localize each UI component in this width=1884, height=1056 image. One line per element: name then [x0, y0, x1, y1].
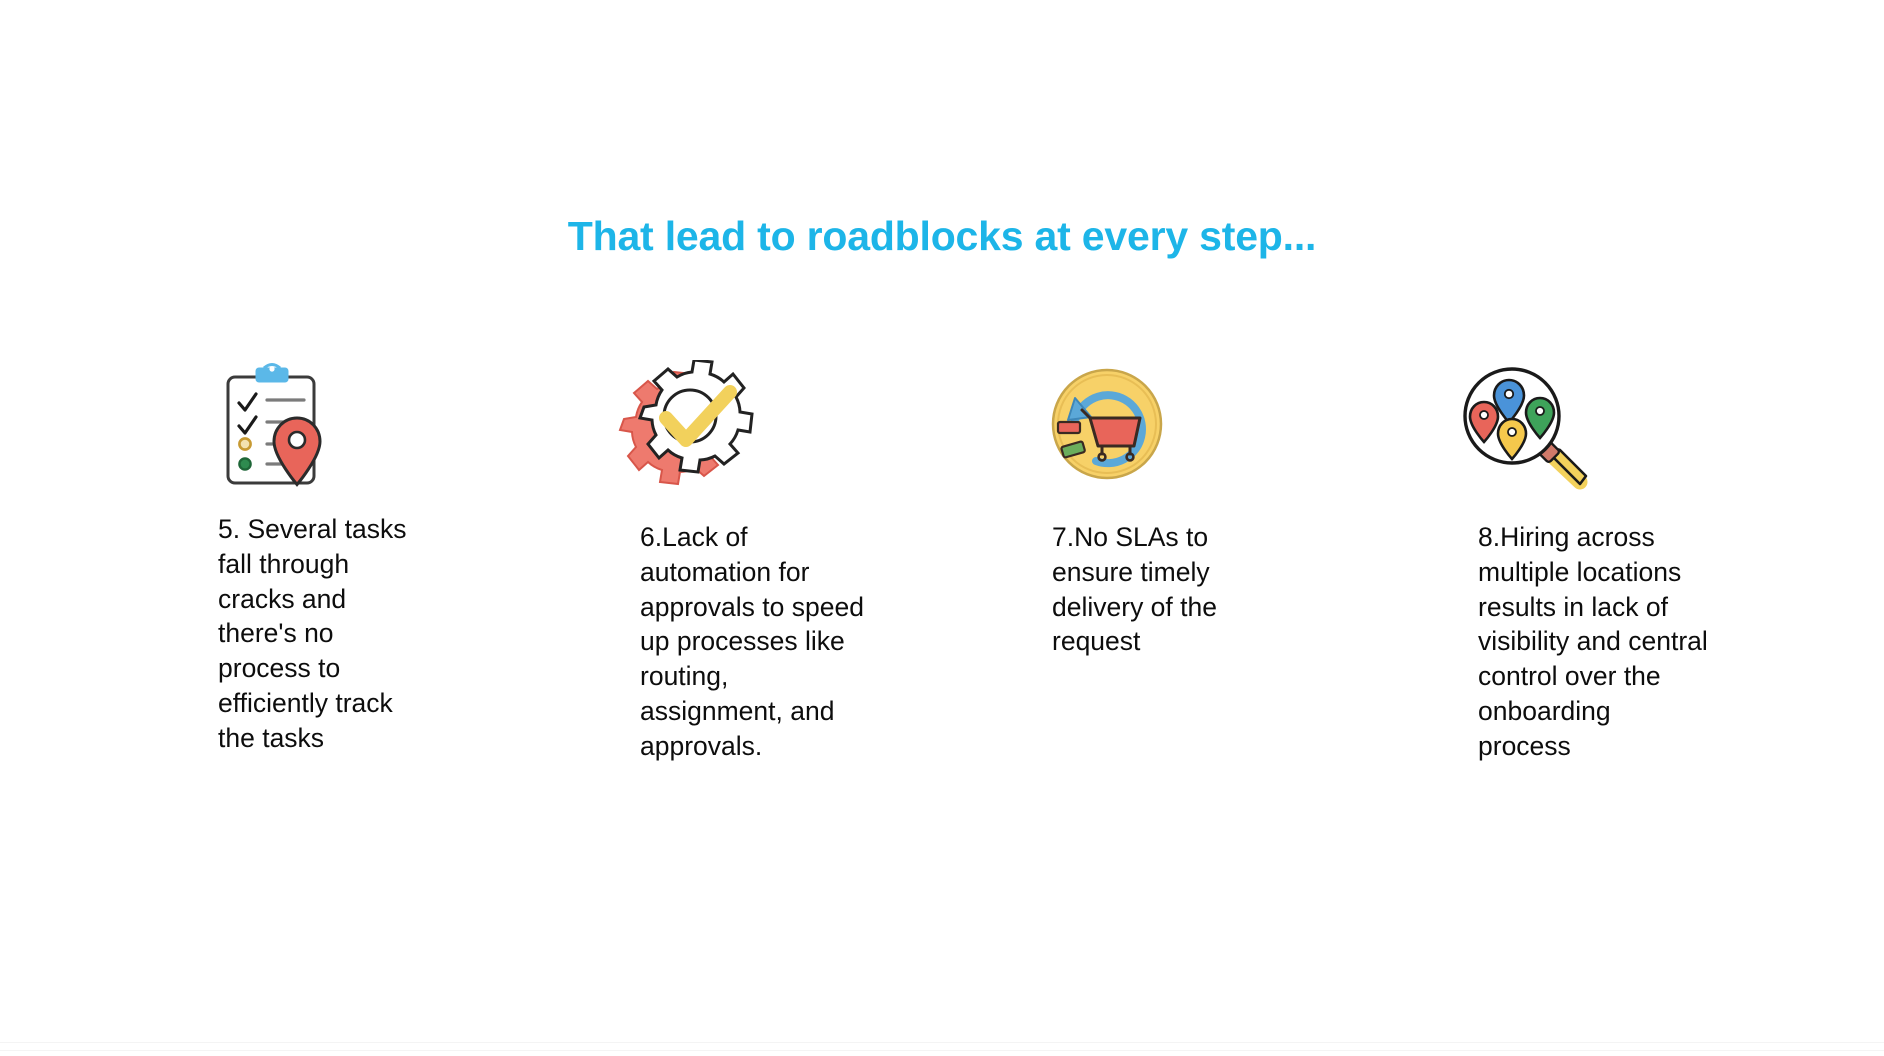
- roadblock-columns: 5. Several tasks fall through cracks and…: [0, 360, 1884, 920]
- roadblock-caption: 8.Hiring across multiple locations resul…: [1478, 520, 1708, 764]
- roadblock-item-7: 7.No SLAs to ensure timely delivery of t…: [1052, 360, 1272, 659]
- roadblock-caption: 5. Several tasks fall through cracks and…: [218, 512, 408, 756]
- clipboard-checklist-location-pin-icon: [212, 360, 408, 490]
- shopping-cart-refresh-sla-icon: [1044, 360, 1272, 490]
- bottom-hairline-lower: [0, 1050, 1884, 1051]
- roadblock-caption: 6.Lack of automation for approvals to sp…: [640, 520, 870, 764]
- roadblock-item-8: 8.Hiring across multiple locations resul…: [1478, 360, 1708, 764]
- roadblock-item-6: 6.Lack of automation for approvals to sp…: [640, 360, 870, 764]
- bottom-hairline-upper: [0, 1042, 1884, 1043]
- gear-checkmark-automation-icon: [618, 360, 870, 490]
- roadblock-item-5: 5. Several tasks fall through cracks and…: [218, 360, 408, 756]
- slide-canvas: That lead to roadblocks at every step...: [0, 0, 1884, 1056]
- page-title: That lead to roadblocks at every step...: [0, 213, 1884, 260]
- roadblock-caption: 7.No SLAs to ensure timely delivery of t…: [1052, 520, 1272, 659]
- magnifier-multiple-locations-icon: [1456, 360, 1708, 490]
